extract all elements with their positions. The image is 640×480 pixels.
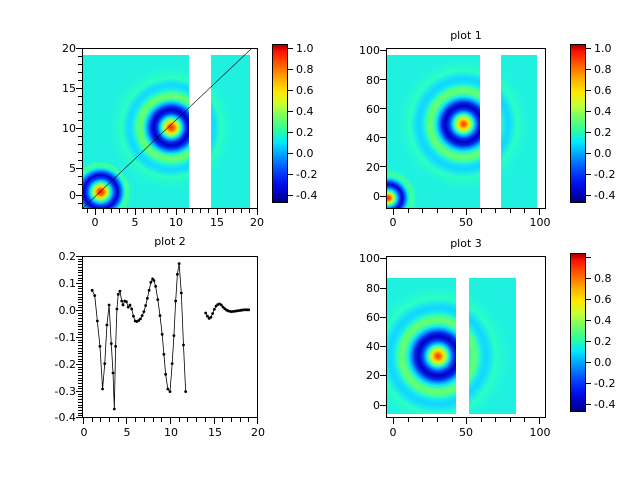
colorbar-gradient bbox=[273, 45, 287, 202]
cbar-tick bbox=[288, 69, 293, 70]
data-point-marker bbox=[148, 289, 151, 292]
ytick-label: 5 bbox=[42, 162, 76, 175]
data-point-marker bbox=[144, 304, 147, 307]
ytick-minor bbox=[78, 56, 82, 57]
ytick-label: 40 bbox=[340, 340, 380, 353]
cbar-tick bbox=[586, 299, 591, 300]
cbar-tick bbox=[288, 111, 293, 112]
ytick-label: 100 bbox=[340, 252, 380, 265]
ytick-minor bbox=[78, 270, 82, 271]
ytick-minor bbox=[78, 302, 82, 303]
ytick-minor bbox=[78, 278, 82, 279]
cbar-tick-label: 0.4 bbox=[594, 314, 612, 327]
cbar-tick-label: 1.0 bbox=[594, 42, 612, 55]
ytick-minor bbox=[78, 342, 82, 343]
xtick-label: 0 bbox=[72, 426, 96, 439]
ytick-minor bbox=[78, 367, 82, 368]
cbar-tick bbox=[586, 278, 591, 279]
ytick-minor bbox=[78, 399, 82, 400]
ytick-minor bbox=[78, 348, 82, 349]
cbar-tick bbox=[288, 195, 293, 196]
ytick-minor bbox=[78, 318, 82, 319]
xtick-major bbox=[466, 418, 467, 424]
cbar-tick bbox=[586, 257, 591, 258]
colorbar-gradient bbox=[571, 45, 585, 202]
xtick-minor bbox=[510, 209, 511, 213]
data-point-marker bbox=[247, 308, 250, 311]
ytick-minor bbox=[78, 72, 82, 73]
data-point-marker bbox=[180, 292, 183, 295]
ytick-major bbox=[76, 391, 82, 392]
ytick-minor bbox=[78, 307, 82, 308]
colorbar-top-left bbox=[272, 44, 288, 203]
ytick-minor bbox=[78, 315, 82, 316]
xtick-minor bbox=[119, 209, 120, 213]
ytick-minor bbox=[78, 329, 82, 330]
ytick-label: 0 bbox=[340, 190, 380, 203]
subplot-bottom-right-axes bbox=[386, 256, 546, 418]
xtick-major bbox=[170, 418, 171, 424]
xtick-major bbox=[393, 209, 394, 215]
ytick-minor bbox=[78, 356, 82, 357]
ytick-minor bbox=[78, 136, 82, 137]
xtick-minor bbox=[233, 209, 234, 213]
xtick-label: 50 bbox=[454, 216, 478, 229]
ytick-minor bbox=[78, 351, 82, 352]
data-point-marker bbox=[184, 390, 187, 393]
data-point-marker bbox=[130, 308, 133, 311]
ytick-minor bbox=[78, 410, 82, 411]
subplot-top-left-axes bbox=[82, 48, 258, 209]
data-point-marker bbox=[211, 312, 214, 315]
ytick-minor bbox=[78, 184, 82, 185]
data-point-marker bbox=[209, 316, 212, 319]
xtick-major bbox=[466, 209, 467, 215]
xtick-minor bbox=[241, 209, 242, 213]
ytick-minor bbox=[78, 380, 82, 381]
data-point-marker bbox=[143, 310, 146, 313]
line-series bbox=[92, 264, 186, 409]
ytick-minor bbox=[78, 280, 82, 281]
ytick-minor bbox=[78, 272, 82, 273]
data-point-marker bbox=[173, 334, 176, 337]
data-point-marker bbox=[139, 317, 142, 320]
ytick-label: 0.2 bbox=[34, 250, 76, 263]
ytick-major bbox=[380, 166, 386, 167]
data-point-marker bbox=[171, 362, 174, 365]
ytick-minor bbox=[78, 305, 82, 306]
cbar-tick-label: 0.2 bbox=[296, 126, 314, 139]
ytick-major bbox=[380, 405, 386, 406]
subplot-top-right-title: plot 1 bbox=[386, 29, 546, 42]
ytick-major bbox=[76, 168, 82, 169]
data-point-marker bbox=[101, 388, 104, 391]
ytick-minor bbox=[78, 386, 82, 387]
xtick-minor bbox=[127, 209, 128, 213]
cbar-tick bbox=[586, 69, 591, 70]
xtick-minor bbox=[179, 418, 180, 422]
xtick-minor bbox=[225, 209, 226, 213]
xtick-major bbox=[214, 418, 215, 424]
ytick-minor bbox=[78, 383, 82, 384]
ytick-minor bbox=[78, 96, 82, 97]
ytick-label: -0.3 bbox=[34, 385, 76, 398]
xtick-minor bbox=[100, 418, 101, 422]
ytick-label: 20 bbox=[340, 161, 380, 174]
data-point-marker bbox=[163, 353, 166, 356]
data-point-marker bbox=[122, 304, 125, 307]
data-point-marker bbox=[182, 344, 185, 347]
ytick-minor bbox=[78, 388, 82, 389]
xtick-minor bbox=[196, 418, 197, 422]
cbar-tick-label: 0.2 bbox=[594, 335, 612, 348]
cbar-tick-label: -0.2 bbox=[296, 168, 317, 181]
ytick-minor bbox=[78, 402, 82, 403]
xtick-minor bbox=[200, 209, 201, 213]
xtick-label: 100 bbox=[524, 426, 556, 439]
cbar-tick-label: 0.6 bbox=[296, 84, 314, 97]
data-point-marker bbox=[132, 315, 135, 318]
ytick-minor bbox=[78, 394, 82, 395]
cbar-tick bbox=[586, 320, 591, 321]
cbar-tick-label: 0.8 bbox=[594, 272, 612, 285]
xtick-minor bbox=[422, 418, 423, 422]
ytick-major bbox=[380, 375, 386, 376]
cbar-tick bbox=[586, 132, 591, 133]
ytick-minor bbox=[78, 359, 82, 360]
cbar-tick bbox=[288, 174, 293, 175]
ytick-major bbox=[76, 128, 82, 129]
ytick-label: 100 bbox=[340, 44, 380, 57]
data-point-marker bbox=[112, 372, 115, 375]
ytick-major bbox=[380, 79, 386, 80]
data-point-marker bbox=[114, 345, 117, 348]
data-point-marker bbox=[113, 408, 116, 411]
ytick-minor bbox=[78, 264, 82, 265]
ytick-minor bbox=[78, 267, 82, 268]
data-point-marker bbox=[161, 333, 164, 336]
xtick-minor bbox=[231, 418, 232, 422]
ytick-minor bbox=[78, 332, 82, 333]
xtick-label: 0 bbox=[381, 216, 405, 229]
xtick-minor bbox=[92, 418, 93, 422]
xtick-minor bbox=[103, 209, 104, 213]
data-point-marker bbox=[129, 304, 132, 307]
xtick-minor bbox=[144, 418, 145, 422]
cbar-tick-label: 0.0 bbox=[296, 147, 314, 160]
ytick-minor bbox=[78, 321, 82, 322]
cbar-tick-label: 0.6 bbox=[594, 84, 612, 97]
cbar-tick bbox=[586, 383, 591, 384]
ytick-minor bbox=[78, 104, 82, 105]
ytick-minor bbox=[78, 340, 82, 341]
ytick-label: -0.4 bbox=[34, 411, 76, 424]
xtick-minor bbox=[187, 418, 188, 422]
cbar-tick bbox=[288, 153, 293, 154]
cbar-tick bbox=[586, 362, 591, 363]
ytick-minor bbox=[78, 334, 82, 335]
data-point-marker bbox=[110, 342, 113, 345]
ytick-label: 0.1 bbox=[34, 277, 76, 290]
ytick-major bbox=[380, 108, 386, 109]
ytick-major bbox=[380, 346, 386, 347]
xtick-minor bbox=[111, 209, 112, 213]
xtick-major bbox=[539, 418, 540, 424]
data-point-marker bbox=[169, 390, 172, 393]
ytick-label: 80 bbox=[340, 282, 380, 295]
cbar-tick-label: 0.4 bbox=[594, 105, 612, 118]
ytick-minor bbox=[78, 144, 82, 145]
ytick-minor bbox=[78, 261, 82, 262]
xtick-minor bbox=[408, 209, 409, 213]
data-point-marker bbox=[106, 324, 109, 327]
xtick-label: 10 bbox=[158, 426, 184, 439]
cbar-tick-label: 0.6 bbox=[594, 293, 612, 306]
cbar-tick bbox=[586, 341, 591, 342]
ytick-minor bbox=[78, 80, 82, 81]
ytick-major bbox=[380, 137, 386, 138]
ytick-minor bbox=[78, 64, 82, 65]
xtick-minor bbox=[249, 209, 250, 213]
cbar-tick-label: 0.8 bbox=[594, 63, 612, 76]
data-point-marker bbox=[96, 320, 99, 323]
xtick-major bbox=[83, 418, 84, 424]
ytick-label: 15 bbox=[42, 82, 76, 95]
subplot-bottom-right-title: plot 3 bbox=[386, 237, 546, 250]
xtick-minor bbox=[524, 418, 525, 422]
colorbar-gradient bbox=[571, 254, 585, 411]
xtick-minor bbox=[240, 418, 241, 422]
xtick-minor bbox=[135, 418, 136, 422]
colorbar-bottom-right bbox=[570, 253, 586, 412]
cbar-tick-label: 0.0 bbox=[594, 356, 612, 369]
ytick-major bbox=[380, 50, 386, 51]
ytick-label: 80 bbox=[340, 74, 380, 87]
ytick-minor bbox=[78, 152, 82, 153]
xtick-minor bbox=[192, 209, 193, 213]
xtick-minor bbox=[408, 418, 409, 422]
ytick-minor bbox=[78, 291, 82, 292]
xtick-minor bbox=[248, 418, 249, 422]
data-point-marker bbox=[213, 308, 216, 311]
data-point-marker bbox=[141, 314, 144, 317]
ytick-label: 0.0 bbox=[34, 304, 76, 317]
cbar-tick bbox=[288, 132, 293, 133]
xtick-minor bbox=[167, 209, 168, 213]
cbar-tick-label: -0.2 bbox=[594, 377, 615, 390]
data-point-marker bbox=[153, 279, 156, 282]
xtick-major bbox=[257, 418, 258, 424]
cbar-tick bbox=[288, 48, 293, 49]
ytick-label: -0.2 bbox=[34, 358, 76, 371]
cbar-tick bbox=[586, 48, 591, 49]
xtick-label: 15 bbox=[202, 426, 228, 439]
xtick-minor bbox=[184, 209, 185, 213]
ytick-major bbox=[76, 364, 82, 365]
xtick-label: 10 bbox=[164, 216, 188, 229]
xtick-minor bbox=[109, 418, 110, 422]
lineplot-canvas bbox=[83, 257, 257, 417]
data-point-marker bbox=[176, 273, 179, 276]
ytick-major bbox=[380, 196, 386, 197]
xtick-minor bbox=[143, 209, 144, 213]
xtick-major bbox=[539, 209, 540, 215]
xtick-major bbox=[135, 209, 136, 215]
data-point-marker bbox=[204, 312, 207, 315]
data-point-marker bbox=[93, 294, 96, 297]
ytick-major bbox=[76, 88, 82, 89]
ytick-minor bbox=[78, 415, 82, 416]
ytick-major bbox=[76, 48, 82, 49]
xtick-minor bbox=[205, 418, 206, 422]
ytick-minor bbox=[78, 299, 82, 300]
cbar-tick-label: -0.4 bbox=[296, 189, 317, 202]
data-point-marker bbox=[146, 297, 149, 300]
data-point-marker bbox=[99, 345, 102, 348]
data-point-marker bbox=[156, 298, 159, 301]
ytick-major bbox=[380, 258, 386, 259]
cbar-tick bbox=[586, 174, 591, 175]
cbar-tick bbox=[586, 404, 591, 405]
cbar-tick-label: 0.4 bbox=[296, 105, 314, 118]
xtick-major bbox=[95, 209, 96, 215]
ytick-label: -0.1 bbox=[34, 331, 76, 344]
cbar-tick-label: 1.0 bbox=[296, 42, 314, 55]
xtick-minor bbox=[153, 418, 154, 422]
xtick-major bbox=[176, 209, 177, 215]
subplot-top-right-axes bbox=[386, 48, 546, 209]
ytick-label: 0 bbox=[340, 399, 380, 412]
data-point-marker bbox=[119, 290, 122, 293]
data-point-marker bbox=[154, 285, 157, 288]
xtick-minor bbox=[510, 418, 511, 422]
ytick-major bbox=[76, 417, 82, 418]
ytick-minor bbox=[78, 326, 82, 327]
ytick-minor bbox=[78, 345, 82, 346]
xtick-major bbox=[393, 418, 394, 424]
data-point-marker bbox=[125, 300, 128, 303]
ytick-major bbox=[76, 195, 82, 196]
ytick-minor bbox=[78, 413, 82, 414]
xtick-label: 20 bbox=[245, 216, 269, 229]
cbar-tick-label: -0.4 bbox=[594, 398, 615, 411]
cbar-tick bbox=[586, 195, 591, 196]
ytick-label: 10 bbox=[42, 122, 76, 135]
data-point-marker bbox=[117, 293, 120, 296]
subplot-bottom-left-title: plot 2 bbox=[82, 235, 258, 248]
cbar-tick bbox=[586, 153, 591, 154]
xtick-minor bbox=[422, 209, 423, 213]
cbar-tick bbox=[586, 90, 591, 91]
ytick-minor bbox=[78, 297, 82, 298]
xtick-minor bbox=[222, 418, 223, 422]
xtick-minor bbox=[151, 209, 152, 213]
ytick-minor bbox=[78, 324, 82, 325]
data-point-marker bbox=[174, 300, 177, 303]
data-point-marker bbox=[178, 262, 181, 265]
data-point-marker bbox=[91, 289, 94, 292]
ytick-minor bbox=[78, 160, 82, 161]
ytick-minor bbox=[78, 378, 82, 379]
data-point-marker bbox=[120, 300, 123, 303]
ytick-label: 40 bbox=[340, 132, 380, 145]
xtick-major bbox=[257, 209, 258, 215]
ytick-minor bbox=[78, 361, 82, 362]
cbar-tick bbox=[288, 90, 293, 91]
xtick-minor bbox=[437, 418, 438, 422]
xtick-label: 20 bbox=[245, 426, 271, 439]
data-point-marker bbox=[164, 373, 167, 376]
ytick-label: 20 bbox=[340, 369, 380, 382]
cbar-tick-label: 0.8 bbox=[296, 63, 314, 76]
xtick-minor bbox=[524, 209, 525, 213]
data-point-marker bbox=[116, 308, 119, 311]
ytick-major bbox=[76, 337, 82, 338]
xtick-minor bbox=[495, 209, 496, 213]
ytick-minor bbox=[78, 275, 82, 276]
xtick-minor bbox=[161, 418, 162, 422]
ytick-minor bbox=[78, 294, 82, 295]
xtick-minor bbox=[437, 209, 438, 213]
ytick-minor bbox=[78, 369, 82, 370]
heatmap-canvas-top-left bbox=[83, 49, 257, 208]
ytick-label: 0 bbox=[42, 189, 76, 202]
ytick-minor bbox=[78, 375, 82, 376]
xtick-minor bbox=[481, 209, 482, 213]
heatmap-canvas-top-right bbox=[387, 49, 545, 208]
ytick-major bbox=[380, 317, 386, 318]
cbar-tick-label: 0.0 bbox=[594, 147, 612, 160]
xtick-major bbox=[217, 209, 218, 215]
ytick-minor bbox=[78, 353, 82, 354]
xtick-minor bbox=[87, 209, 88, 213]
xtick-minor bbox=[208, 209, 209, 213]
cbar-tick-label: -0.4 bbox=[594, 189, 615, 202]
cbar-tick bbox=[586, 111, 591, 112]
xtick-minor bbox=[159, 209, 160, 213]
xtick-label: 50 bbox=[454, 426, 478, 439]
data-point-marker bbox=[149, 281, 152, 284]
ytick-major bbox=[76, 310, 82, 311]
ytick-major bbox=[380, 288, 386, 289]
cbar-tick-label: -0.2 bbox=[594, 168, 615, 181]
xtick-label: 5 bbox=[123, 216, 147, 229]
ytick-minor bbox=[78, 112, 82, 113]
ytick-minor bbox=[78, 405, 82, 406]
xtick-label: 5 bbox=[115, 426, 139, 439]
figure-canvas: 20 15 10 5 0 bbox=[0, 0, 640, 480]
ytick-minor bbox=[78, 313, 82, 314]
ytick-minor bbox=[78, 396, 82, 397]
xtick-major bbox=[126, 418, 127, 424]
ytick-major bbox=[76, 256, 82, 257]
ytick-major bbox=[76, 283, 82, 284]
xtick-label: 0 bbox=[381, 426, 405, 439]
cbar-tick-label: 0.2 bbox=[594, 126, 612, 139]
xtick-minor bbox=[452, 418, 453, 422]
ytick-minor bbox=[78, 407, 82, 408]
ytick-minor bbox=[78, 372, 82, 373]
ytick-minor bbox=[78, 176, 82, 177]
xtick-minor bbox=[118, 418, 119, 422]
heatmap-canvas-bottom-right bbox=[387, 257, 545, 417]
ytick-minor bbox=[78, 120, 82, 121]
xtick-minor bbox=[495, 418, 496, 422]
ytick-minor bbox=[78, 286, 82, 287]
ytick-minor bbox=[78, 203, 82, 204]
xtick-label: 0 bbox=[83, 216, 107, 229]
colorbar-top-right bbox=[570, 44, 586, 203]
